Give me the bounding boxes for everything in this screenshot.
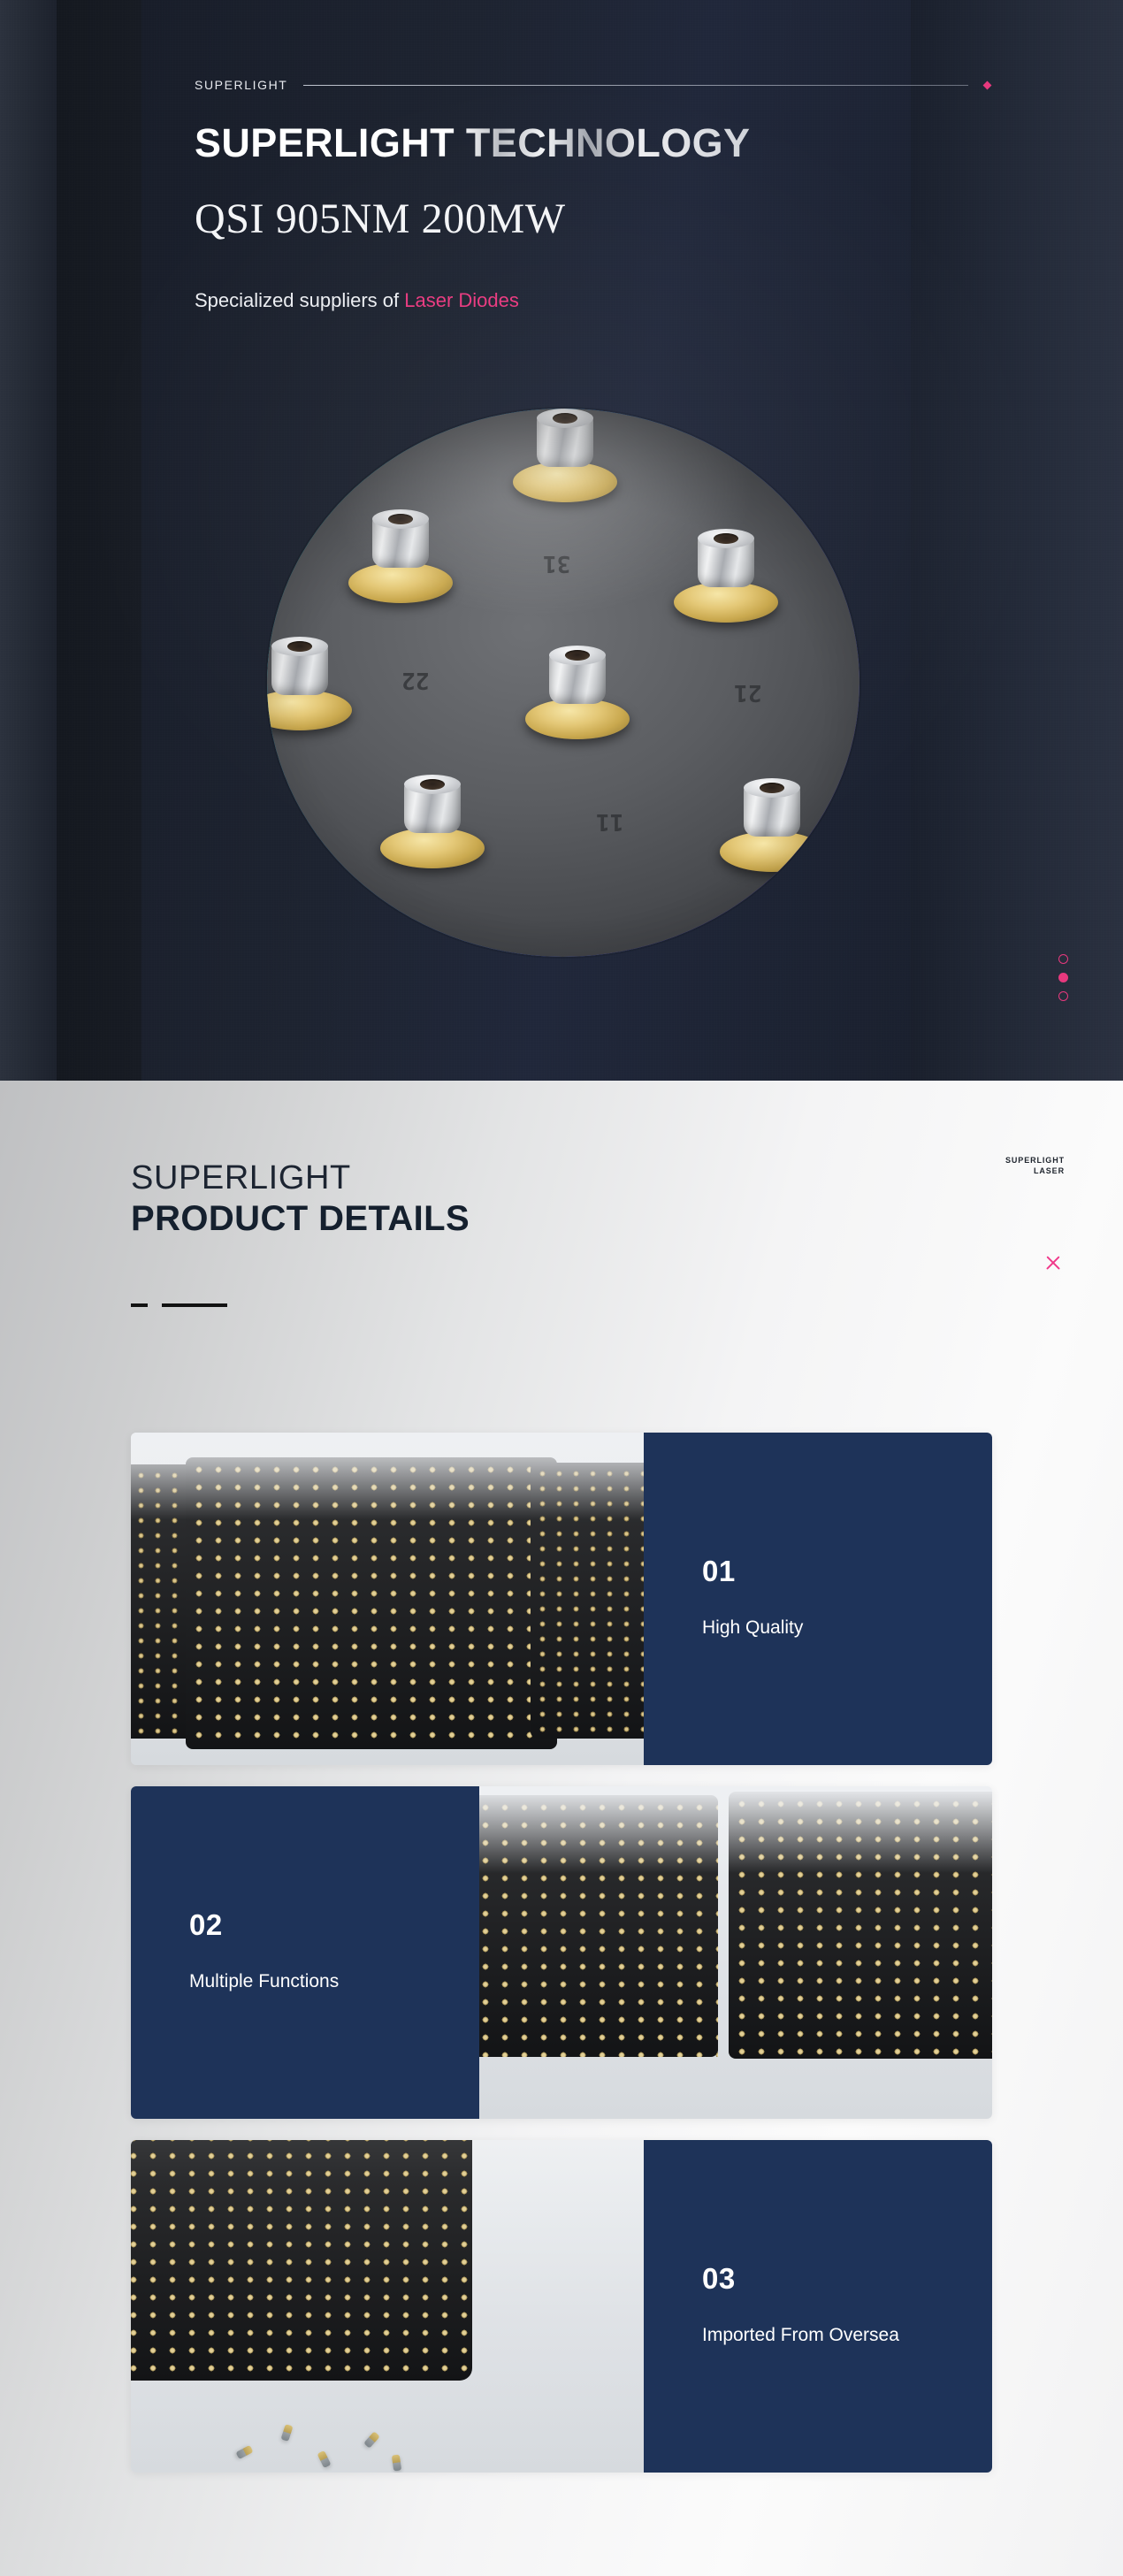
tray-mark-label: 11 bbox=[596, 808, 623, 835]
photo-highlight bbox=[131, 1433, 644, 1519]
loose-diode bbox=[280, 2424, 293, 2442]
laser-diode-unit bbox=[525, 640, 630, 745]
diode-gold-base bbox=[720, 831, 824, 872]
detail-card-number: 03 bbox=[702, 2264, 957, 2293]
hero-banner: SUPERLIGHT SUPERLIGHT TECHNOLOGY QSI 905… bbox=[0, 0, 1123, 1081]
hero-tagline: Specialized suppliers of Laser Diodes bbox=[195, 289, 519, 312]
tray-mark-label: 21 bbox=[734, 679, 761, 706]
hero-subtitle: QSI 905NM 200MW bbox=[195, 196, 566, 243]
hero-tagline-prefix: Specialized suppliers of bbox=[195, 289, 404, 311]
diode-tray bbox=[131, 2140, 472, 2381]
hero-eyebrow-label: SUPERLIGHT bbox=[195, 78, 287, 92]
loose-diode bbox=[392, 2454, 401, 2471]
section-heading: SUPERLIGHT PRODUCT DETAILS bbox=[131, 1158, 470, 1240]
detail-card-panel: 03 Imported From Oversea bbox=[644, 2140, 992, 2473]
laser-diode-unit bbox=[348, 504, 453, 608]
detail-card-panel: 02 Multiple Functions bbox=[131, 1786, 479, 2119]
tray-photo-scene bbox=[479, 1786, 992, 2119]
tray-mark-label: 31 bbox=[543, 550, 570, 577]
tray-mark-label: 22 bbox=[401, 667, 429, 693]
tray-photo-scene bbox=[131, 2140, 644, 2473]
diode-aperture bbox=[714, 533, 738, 544]
section-heading-underline bbox=[131, 1303, 227, 1307]
hero-eyebrow-rule bbox=[303, 85, 968, 86]
diode-aperture bbox=[553, 413, 577, 424]
diode-aperture bbox=[287, 641, 312, 652]
detail-card-number: 02 bbox=[189, 1910, 444, 1939]
hero-tagline-accent: Laser Diodes bbox=[404, 289, 519, 311]
diode-aperture bbox=[565, 650, 590, 661]
detail-card[interactable]: 03 Imported From Oversea bbox=[131, 2140, 992, 2473]
laser-diode-unit bbox=[513, 409, 617, 508]
diode-gold-base bbox=[267, 690, 352, 730]
diamond-dot-icon bbox=[983, 80, 992, 89]
brand-logo: SUPERLIGHT LASER bbox=[1005, 1156, 1065, 1176]
laser-diode-unit bbox=[720, 773, 824, 877]
detail-card-photo bbox=[131, 2140, 644, 2473]
hero-product-circle: 31 22 21 11 bbox=[267, 409, 859, 957]
detail-card-photo bbox=[479, 1786, 992, 2119]
diode-gold-base bbox=[380, 828, 485, 868]
carousel-dot-3[interactable] bbox=[1058, 991, 1068, 1001]
loose-diode bbox=[235, 2445, 253, 2459]
underline-dash-long bbox=[162, 1303, 227, 1307]
diode-aperture bbox=[760, 783, 784, 793]
brand-logo-line1: SUPERLIGHT bbox=[1005, 1156, 1065, 1166]
laser-diode-unit bbox=[267, 631, 352, 736]
close-icon[interactable] bbox=[1043, 1253, 1063, 1273]
photo-highlight bbox=[479, 1786, 992, 1873]
brand-logo-line2: LASER bbox=[1005, 1166, 1065, 1177]
hero-content: SUPERLIGHT SUPERLIGHT TECHNOLOGY QSI 905… bbox=[0, 0, 1123, 1081]
product-landing-page: SUPERLIGHT SUPERLIGHT TECHNOLOGY QSI 905… bbox=[0, 0, 1123, 2576]
detail-card-label: Imported From Oversea bbox=[702, 2323, 957, 2348]
hero-product-image: 31 22 21 11 bbox=[267, 409, 859, 957]
detail-card[interactable]: 01 High Quality bbox=[131, 1433, 992, 1765]
loose-diode bbox=[317, 2450, 332, 2468]
carousel-dot-2[interactable] bbox=[1058, 973, 1068, 982]
carousel-dots[interactable] bbox=[1058, 954, 1068, 1001]
laser-diode-unit bbox=[380, 769, 485, 874]
underline-dash-short bbox=[131, 1303, 148, 1307]
tray-photo-scene bbox=[131, 1433, 644, 1765]
detail-card-label: Multiple Functions bbox=[189, 1969, 444, 1994]
section-heading-bold: PRODUCT DETAILS bbox=[131, 1198, 470, 1240]
hero-eyebrow-row: SUPERLIGHT bbox=[195, 78, 990, 92]
detail-card-label: High Quality bbox=[702, 1616, 957, 1640]
diode-aperture bbox=[420, 779, 445, 790]
carousel-dot-1[interactable] bbox=[1058, 954, 1068, 964]
section-heading-light: SUPERLIGHT bbox=[131, 1158, 470, 1198]
loose-diode bbox=[363, 2431, 380, 2448]
diode-gold-base bbox=[513, 462, 617, 502]
detail-card-panel: 01 High Quality bbox=[644, 1433, 992, 1765]
detail-card-number: 01 bbox=[702, 1556, 957, 1586]
diode-array bbox=[131, 2140, 472, 2381]
detail-card-photo bbox=[131, 1433, 644, 1765]
laser-diode-unit bbox=[674, 524, 778, 628]
hero-title: SUPERLIGHT TECHNOLOGY bbox=[195, 122, 750, 164]
diode-gold-base bbox=[674, 582, 778, 623]
detail-card[interactable]: 02 Multiple Functions bbox=[131, 1786, 992, 2119]
diode-gold-base bbox=[348, 562, 453, 603]
diode-aperture bbox=[388, 514, 413, 524]
diode-gold-base bbox=[525, 699, 630, 739]
